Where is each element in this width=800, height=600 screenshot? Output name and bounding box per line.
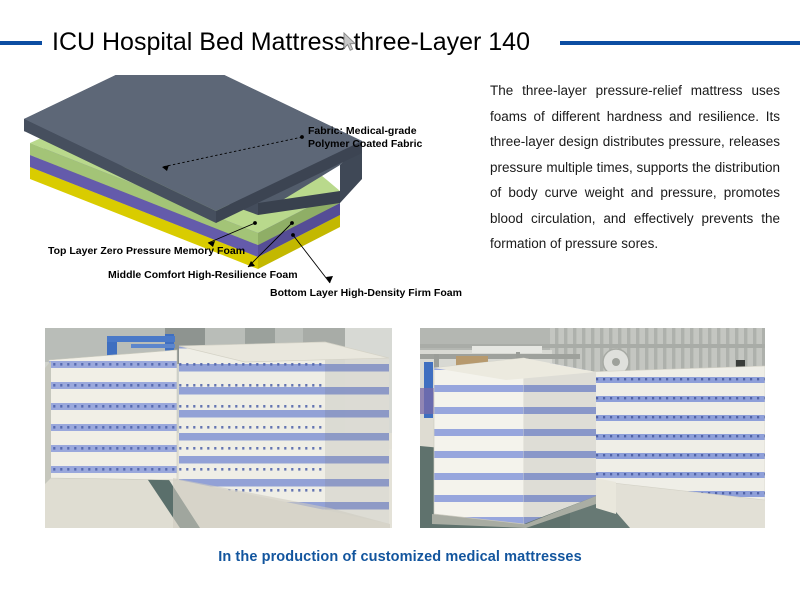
photo-production-stacks-right [420, 328, 765, 528]
production-caption: In the production of customized medical … [0, 549, 800, 565]
page-title: ICU Hospital Bed Mattress three-Layer 14… [52, 24, 530, 60]
photo-production-stacks-left [45, 328, 392, 528]
mattress-cutaway-diagram: Fabric: Medical-grade Polymer Coated Fab… [10, 75, 480, 310]
label-fabric-line2: Polymer Coated Fabric [308, 138, 422, 151]
label-middle-layer: Middle Comfort High-Resilience Foam [108, 269, 298, 282]
label-fabric-line1: Fabric: Medical-grade [308, 125, 422, 138]
product-description: The three-layer pressure-relief mattress… [490, 78, 780, 257]
label-bottom-layer: Bottom Layer High-Density Firm Foam [270, 287, 462, 300]
label-fabric: Fabric: Medical-grade Polymer Coated Fab… [308, 125, 422, 151]
header-rule-right [560, 41, 800, 45]
page-header: ICU Hospital Bed Mattress three-Layer 14… [0, 24, 800, 62]
header-rule-left [0, 41, 42, 45]
label-top-layer: Top Layer Zero Pressure Memory Foam [48, 245, 245, 258]
